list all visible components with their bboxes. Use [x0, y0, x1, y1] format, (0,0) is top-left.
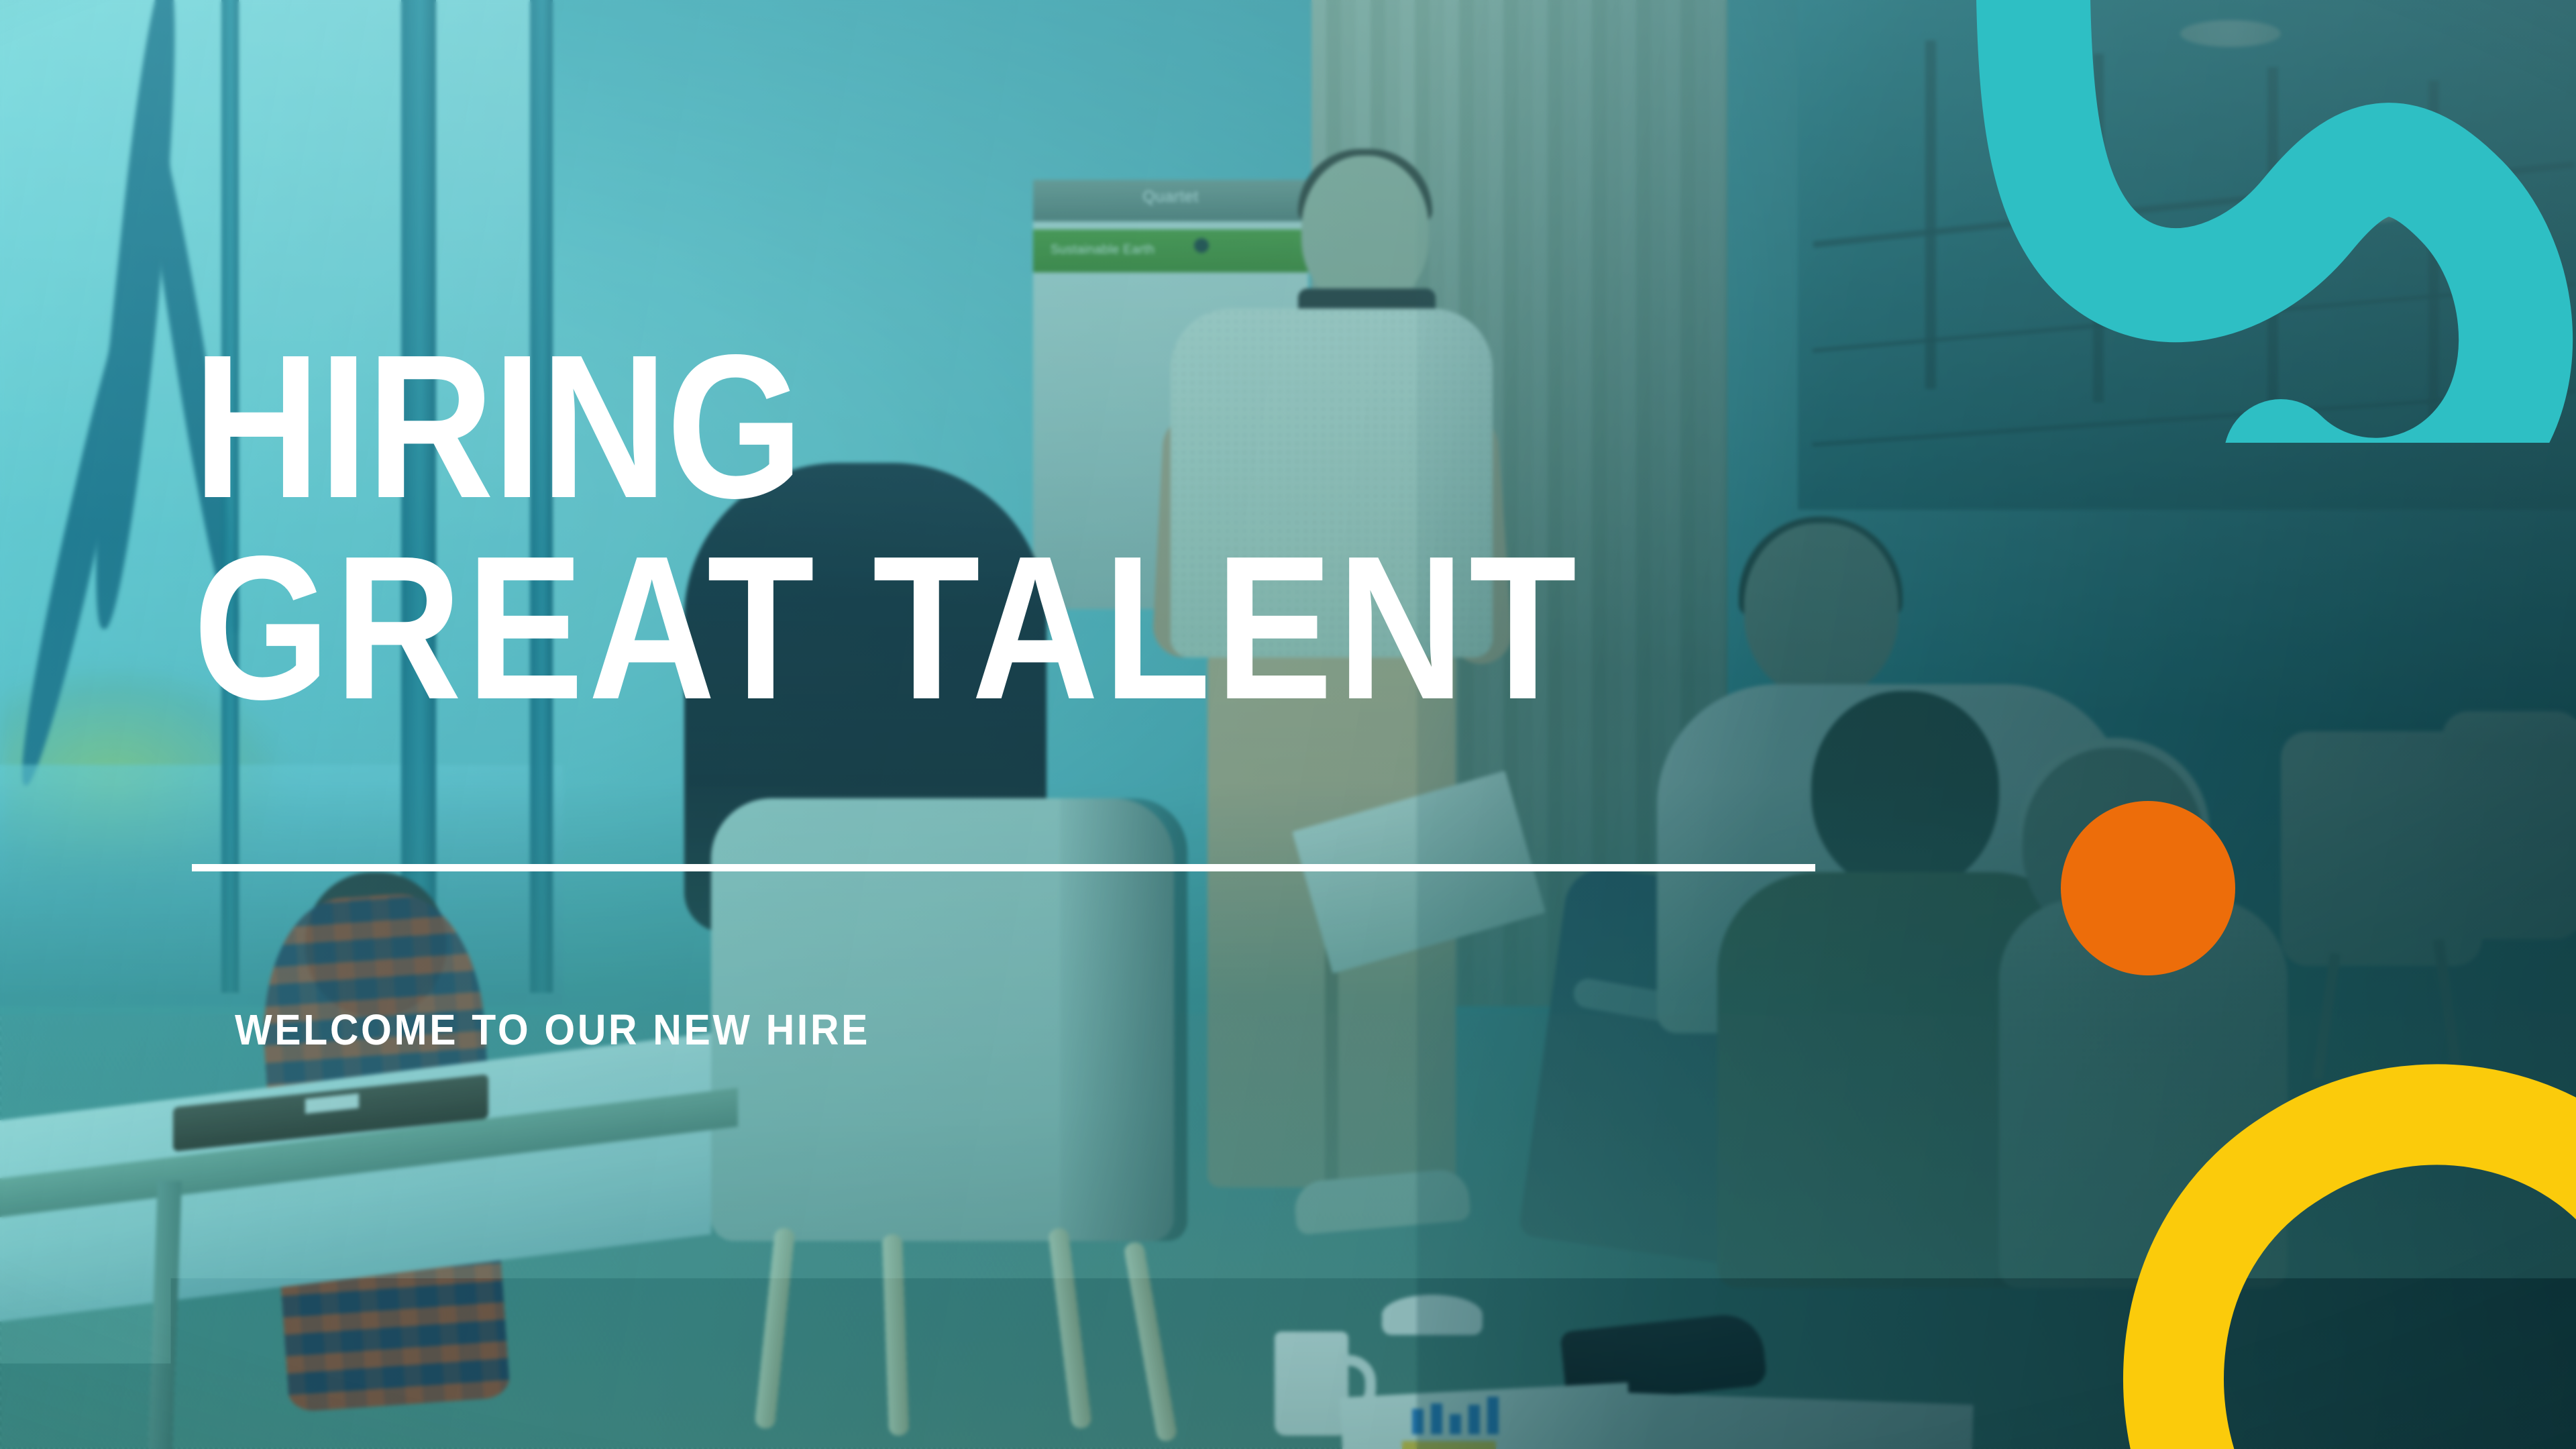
page-title: HIRINGGREAT TALENT [193, 326, 1581, 729]
hiring-banner: Quartet Sustainable Earth [0, 0, 2576, 1449]
title-divider-rule [192, 864, 1815, 871]
headline-line-1: HIRING [193, 312, 802, 541]
banner-copy: HIRINGGREAT TALENT WELCOME TO OUR NEW HI… [0, 0, 2576, 1449]
banner-subtitle: WELCOME TO OUR NEW HIRE [235, 1005, 870, 1055]
headline-line-2: GREAT TALENT [193, 513, 1581, 742]
